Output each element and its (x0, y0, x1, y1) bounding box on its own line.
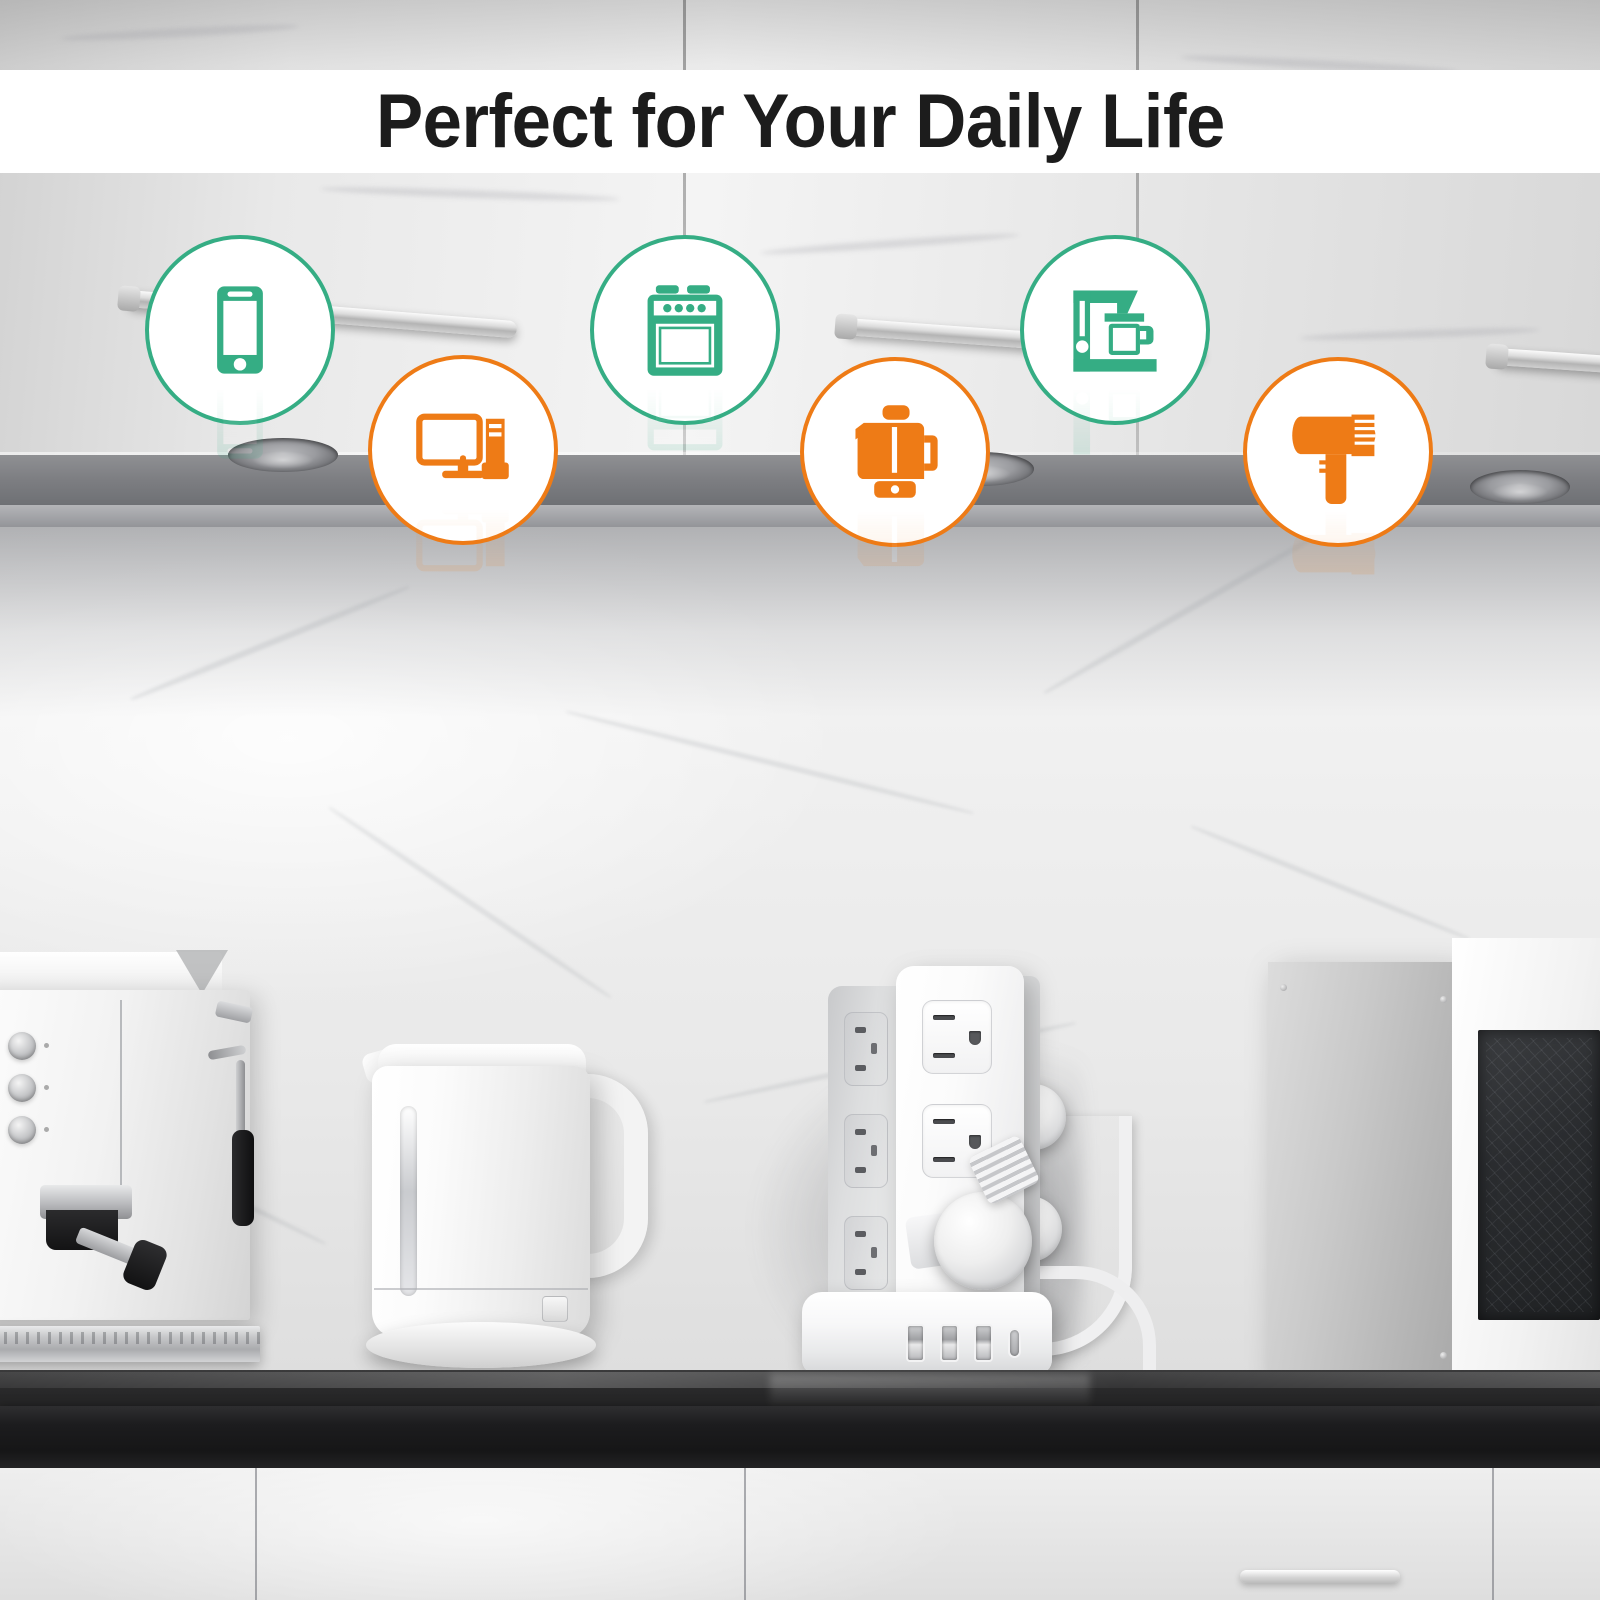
lower-cabinet-seam (255, 1468, 257, 1600)
title-banner: Perfect for Your Daily Life (0, 70, 1600, 173)
ac-outlet-side[interactable] (844, 1012, 888, 1086)
page-title: Perfect for Your Daily Life (376, 84, 1225, 160)
lower-cabinet-seam (744, 1468, 746, 1600)
badge-clip (372, 359, 554, 541)
microwave-screw (1280, 984, 1287, 991)
badge-smartphone[interactable] (145, 235, 335, 425)
microwave-screw (1440, 996, 1447, 1003)
espresso-indicator (44, 1085, 49, 1090)
microwave-screw (1440, 1352, 1447, 1359)
lower-cabinet-seam (1492, 1468, 1494, 1600)
espresso-indicator (44, 1127, 49, 1132)
badge-clip (594, 239, 776, 421)
usb-a-port[interactable] (906, 1324, 925, 1362)
badge-coffeemaker[interactable] (1020, 235, 1210, 425)
espresso-button (8, 1032, 36, 1060)
badge-clip (149, 239, 331, 421)
kettle-power-switch (542, 1296, 568, 1322)
microwave-door-glass (1478, 1030, 1600, 1320)
badge-clip (804, 361, 986, 543)
badge-computer[interactable] (368, 355, 558, 545)
microwave-side-panel (1268, 962, 1458, 1382)
badge-oven[interactable] (590, 235, 780, 425)
oven-stove-icon (633, 278, 737, 382)
power-strip-tower (800, 966, 1070, 1386)
lower-cabinet-handle (1240, 1570, 1400, 1583)
badge-hairdryer[interactable] (1243, 357, 1433, 547)
desktop-computer-icon (411, 398, 515, 502)
kettle-seam (374, 1288, 588, 1290)
ac-outlet-side[interactable] (844, 1216, 888, 1290)
badge-clip (1247, 361, 1429, 543)
usb-c-port[interactable] (1008, 1328, 1021, 1358)
usb-a-port[interactable] (940, 1324, 959, 1362)
ac-outlet-side[interactable] (844, 1114, 888, 1188)
hair-dryer-icon (1286, 400, 1390, 504)
espresso-indicator (44, 1043, 49, 1048)
kettle-base (366, 1322, 596, 1368)
ac-outlet[interactable] (922, 1000, 992, 1074)
plug-adapter (934, 1192, 1032, 1290)
coffee-maker-icon (1063, 278, 1167, 382)
product-marketing-image: Perfect for Your Daily Life (0, 0, 1600, 1600)
espresso-hopper (176, 950, 228, 994)
smartphone-icon (188, 278, 292, 382)
steam-wand-grip (232, 1130, 254, 1226)
countertop-reflection (770, 1374, 1090, 1408)
kettle-water-window (400, 1106, 417, 1296)
espresso-panel-seam (120, 1000, 122, 1200)
electric-kettle-icon (843, 400, 947, 504)
badge-kettle[interactable] (800, 357, 990, 547)
drip-tray-grate (0, 1332, 260, 1344)
countertop-edge (0, 1406, 1600, 1470)
espresso-button (8, 1116, 36, 1144)
badge-clip (1024, 239, 1206, 421)
espresso-button (8, 1074, 36, 1102)
usb-a-port[interactable] (974, 1324, 993, 1362)
